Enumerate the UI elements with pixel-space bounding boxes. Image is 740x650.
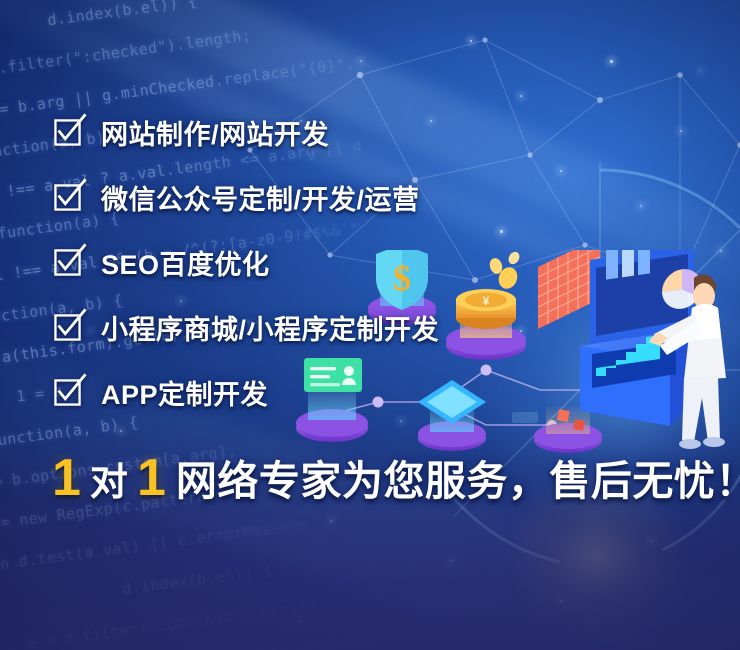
headline: 1 对 1 网络专家为您服务，售后无忧！ xyxy=(52,452,740,504)
headline-rest-text: 网络专家为您服务，售后无忧！ xyxy=(176,461,740,502)
headline-middle-char: 对 xyxy=(90,464,128,502)
feature-item-label: APP定制开发 xyxy=(101,373,268,412)
feature-item: 网站制作/网站开发 xyxy=(54,100,694,165)
promo-banner: d.index(b.el)) {e = d.filter(":checked")… xyxy=(0,0,740,650)
checkbox-checked-icon xyxy=(54,119,81,146)
checkbox-checked-icon xyxy=(54,314,81,341)
checkbox-checked-icon xyxy=(54,184,81,211)
feature-item-label: 网站制作/网站开发 xyxy=(101,113,329,152)
feature-item: SEO百度优化 xyxy=(54,230,694,295)
feature-item-label: 微信公众号定制/开发/运营 xyxy=(101,178,420,217)
feature-item: APP定制开发 xyxy=(54,360,694,425)
feature-item: 微信公众号定制/开发/运营 xyxy=(54,165,694,230)
feature-list: 网站制作/网站开发微信公众号定制/开发/运营SEO百度优化小程序商城/小程序定制… xyxy=(54,100,694,425)
headline-number-second: 1 xyxy=(137,452,166,504)
feature-item-label: SEO百度优化 xyxy=(101,243,270,282)
headline-number-first: 1 xyxy=(52,452,81,504)
feature-item: 小程序商城/小程序定制开发 xyxy=(54,295,694,360)
checkbox-checked-icon xyxy=(54,379,81,406)
checkbox-checked-icon xyxy=(54,249,81,276)
feature-item-label: 小程序商城/小程序定制开发 xyxy=(101,308,439,347)
